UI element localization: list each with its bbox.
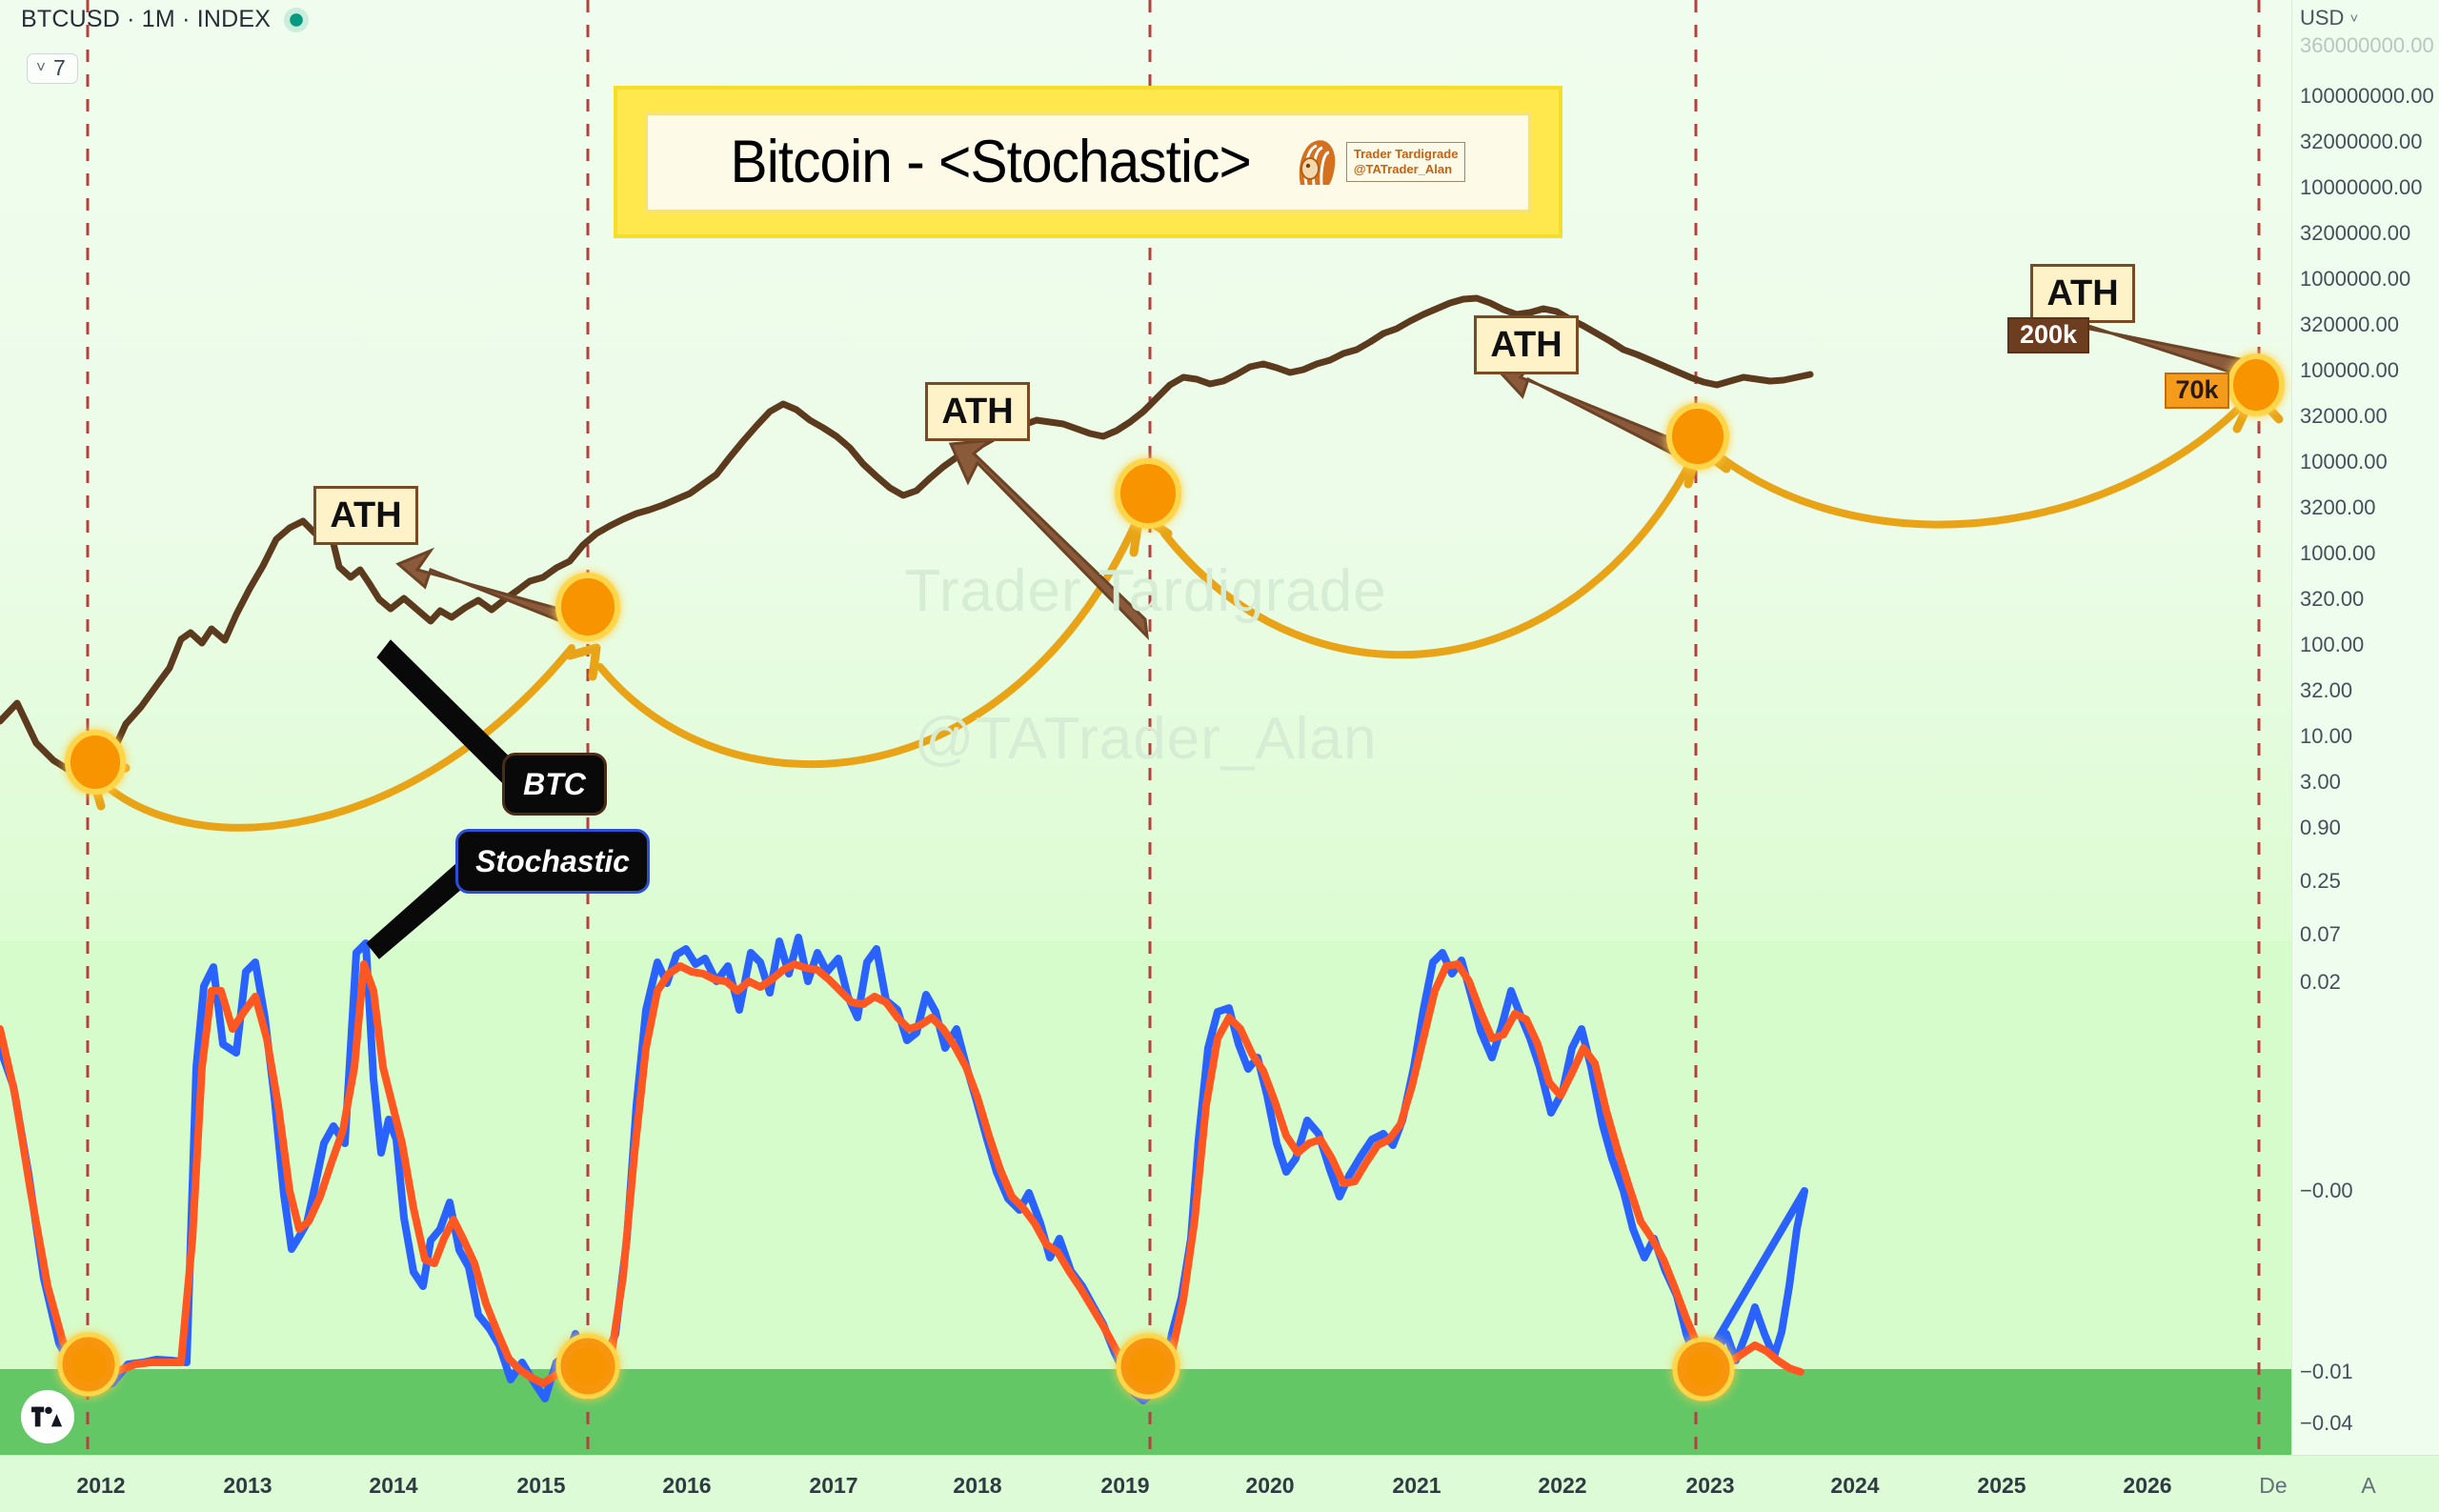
time-tick: De	[2259, 1473, 2287, 1499]
btc-series-tag: BTC	[502, 753, 607, 816]
price-tick: 100000.00	[2300, 358, 2399, 383]
watermark-line-1: Trader Tardigrade	[0, 557, 2291, 625]
symbol-label[interactable]: BTCUSD · 1M · INDEX	[21, 6, 271, 33]
page-title: Bitcoin - <Stochastic>	[730, 128, 1250, 196]
brand-name: Trader Tardigrade	[1354, 147, 1459, 162]
price-tick: 360000000.00	[2300, 33, 2434, 58]
time-tick: A	[2361, 1473, 2375, 1499]
currency-selector[interactable]: USD ˅	[2300, 6, 2358, 30]
tradingview-logo-icon[interactable]	[21, 1390, 74, 1443]
time-tick: 2015	[516, 1473, 565, 1499]
currency-label: USD	[2300, 6, 2344, 30]
ath-label-2018: ATH	[925, 382, 1030, 441]
price-tick: −0.01	[2300, 1360, 2353, 1384]
price-tick: 10000000.00	[2300, 175, 2422, 200]
time-tick: 2026	[2123, 1473, 2171, 1499]
time-tick: 2018	[953, 1473, 1001, 1499]
time-tick: 2025	[1977, 1473, 2026, 1499]
tardigrade-logo-icon	[1295, 137, 1339, 187]
chevron-down-icon[interactable]: ˅	[2349, 10, 2358, 27]
price-tick: 1000000.00	[2300, 267, 2410, 292]
green-dot-icon	[284, 8, 309, 32]
chevron-down-icon[interactable]: ˅	[36, 59, 46, 75]
title-banner: Bitcoin - <Stochastic> Trader Tardigrade…	[614, 86, 1562, 238]
price-tick: 3200000.00	[2300, 221, 2410, 246]
title-banner-inner: Bitcoin - <Stochastic> Trader Tardigrade…	[645, 112, 1531, 212]
brand-handle: @TATrader_Alan	[1354, 162, 1459, 177]
price-tick: 100.00	[2300, 633, 2364, 657]
ath-label-2025: ATH	[2030, 264, 2135, 323]
ath-label-2014: ATH	[313, 486, 418, 545]
series-count-badge[interactable]: ˅ 7	[27, 53, 78, 84]
oversold-zone-band	[0, 1369, 2291, 1455]
time-tick: 2020	[1245, 1473, 1294, 1499]
price-tick: 3200.00	[2300, 495, 2376, 520]
chart-header[interactable]: BTCUSD · 1M · INDEX	[21, 6, 309, 33]
price-tick: 0.90	[2300, 816, 2341, 840]
price-tick: 320.00	[2300, 587, 2364, 612]
time-tick: 2016	[662, 1473, 711, 1499]
ath-label-2021: ATH	[1474, 315, 1579, 374]
time-tick: 2017	[809, 1473, 857, 1499]
time-tick: 2023	[1685, 1473, 1734, 1499]
price-tick: 1000.00	[2300, 541, 2376, 566]
price-tick: 3.00	[2300, 770, 2341, 795]
time-tick: 2013	[223, 1473, 272, 1499]
price-tick: 32000000.00	[2300, 130, 2422, 154]
price-tick: −0.00	[2300, 1179, 2353, 1203]
series-count-value: 7	[53, 57, 66, 79]
target-badge-200k: 200k	[2007, 317, 2089, 353]
chart-root: Trader Tardigrade @TATrader_Alan	[0, 0, 2439, 1511]
price-tick: 0.02	[2300, 970, 2341, 995]
price-tick: 32.00	[2300, 678, 2352, 703]
price-tick: 10.00	[2300, 724, 2352, 749]
price-tick: 32000.00	[2300, 404, 2388, 429]
stochastic-series-tag: Stochastic	[455, 829, 650, 894]
price-axis[interactable]: USD ˅ 360000000.00100000000.0032000000.0…	[2291, 0, 2439, 1455]
price-tick: −0.04	[2300, 1411, 2353, 1436]
price-tick: 100000000.00	[2300, 84, 2434, 109]
time-tick: 2014	[369, 1473, 417, 1499]
price-tick: 0.07	[2300, 922, 2341, 947]
price-tick: 10000.00	[2300, 450, 2388, 474]
time-tick: 2012	[76, 1473, 125, 1499]
brand-logo: Trader Tardigrade @TATrader_Alan	[1295, 137, 1466, 187]
price-tick: 320000.00	[2300, 312, 2399, 337]
target-badge-70k: 70k	[2165, 373, 2229, 409]
time-tick: 2019	[1100, 1473, 1149, 1499]
time-axis[interactable]: 2012201320142015201620172018201920202021…	[0, 1455, 2439, 1512]
brand-logo-text: Trader Tardigrade @TATrader_Alan	[1346, 142, 1466, 183]
price-tick: 0.25	[2300, 869, 2341, 894]
watermark-line-2: @TATrader_Alan	[0, 705, 2291, 773]
time-tick: 2024	[1830, 1473, 1879, 1499]
time-tick: 2021	[1392, 1473, 1441, 1499]
time-tick: 2022	[1538, 1473, 1586, 1499]
